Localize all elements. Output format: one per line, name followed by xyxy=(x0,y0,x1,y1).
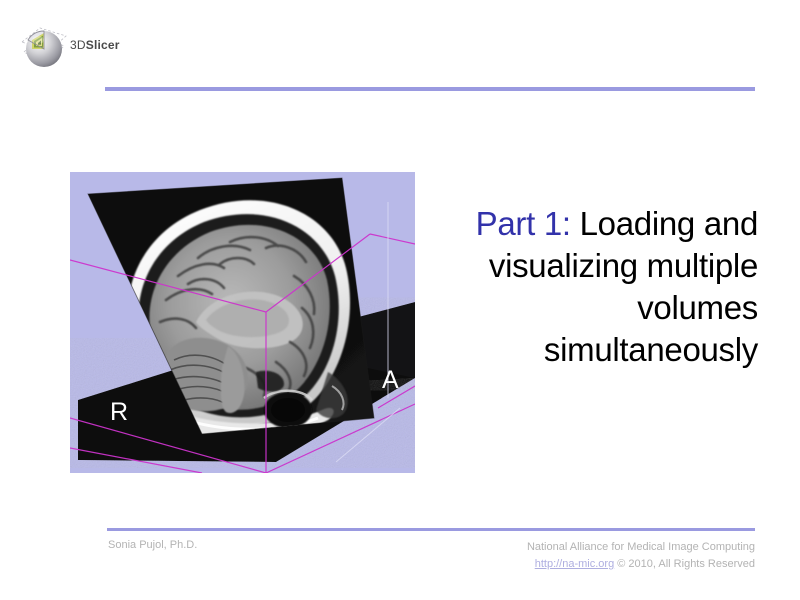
orientation-label-anterior: A xyxy=(382,366,399,394)
footer-author: Sonia Pujol, Ph.D. xyxy=(108,539,197,551)
slicer-globe-logo-icon xyxy=(18,22,70,74)
logo-text-slicer: Slicer xyxy=(86,38,120,52)
orientation-label-right: R xyxy=(110,398,128,426)
3d-slicer-3d-view[interactable]: R A xyxy=(70,172,415,473)
footer-divider xyxy=(107,528,755,531)
slide-title: Part 1: Loading and visualizing multiple… xyxy=(418,203,758,371)
footer-copyright-line: http://na-mic.org © 2010, All Rights Res… xyxy=(335,556,755,573)
slicer-logo-text: 3DSlicer xyxy=(70,38,120,52)
slide-title-accent: Part 1: xyxy=(476,205,571,242)
footer-copyright-text: © 2010, All Rights Reserved xyxy=(617,558,755,570)
header-divider xyxy=(105,87,755,91)
footer-credits: National Alliance for Medical Image Comp… xyxy=(335,539,755,573)
footer-url-link[interactable]: http://na-mic.org xyxy=(535,558,614,570)
footer-organization: National Alliance for Medical Image Comp… xyxy=(335,539,755,556)
logo-text-3d: 3D xyxy=(70,38,86,52)
slicer-logo: 3DSlicer xyxy=(18,22,198,76)
